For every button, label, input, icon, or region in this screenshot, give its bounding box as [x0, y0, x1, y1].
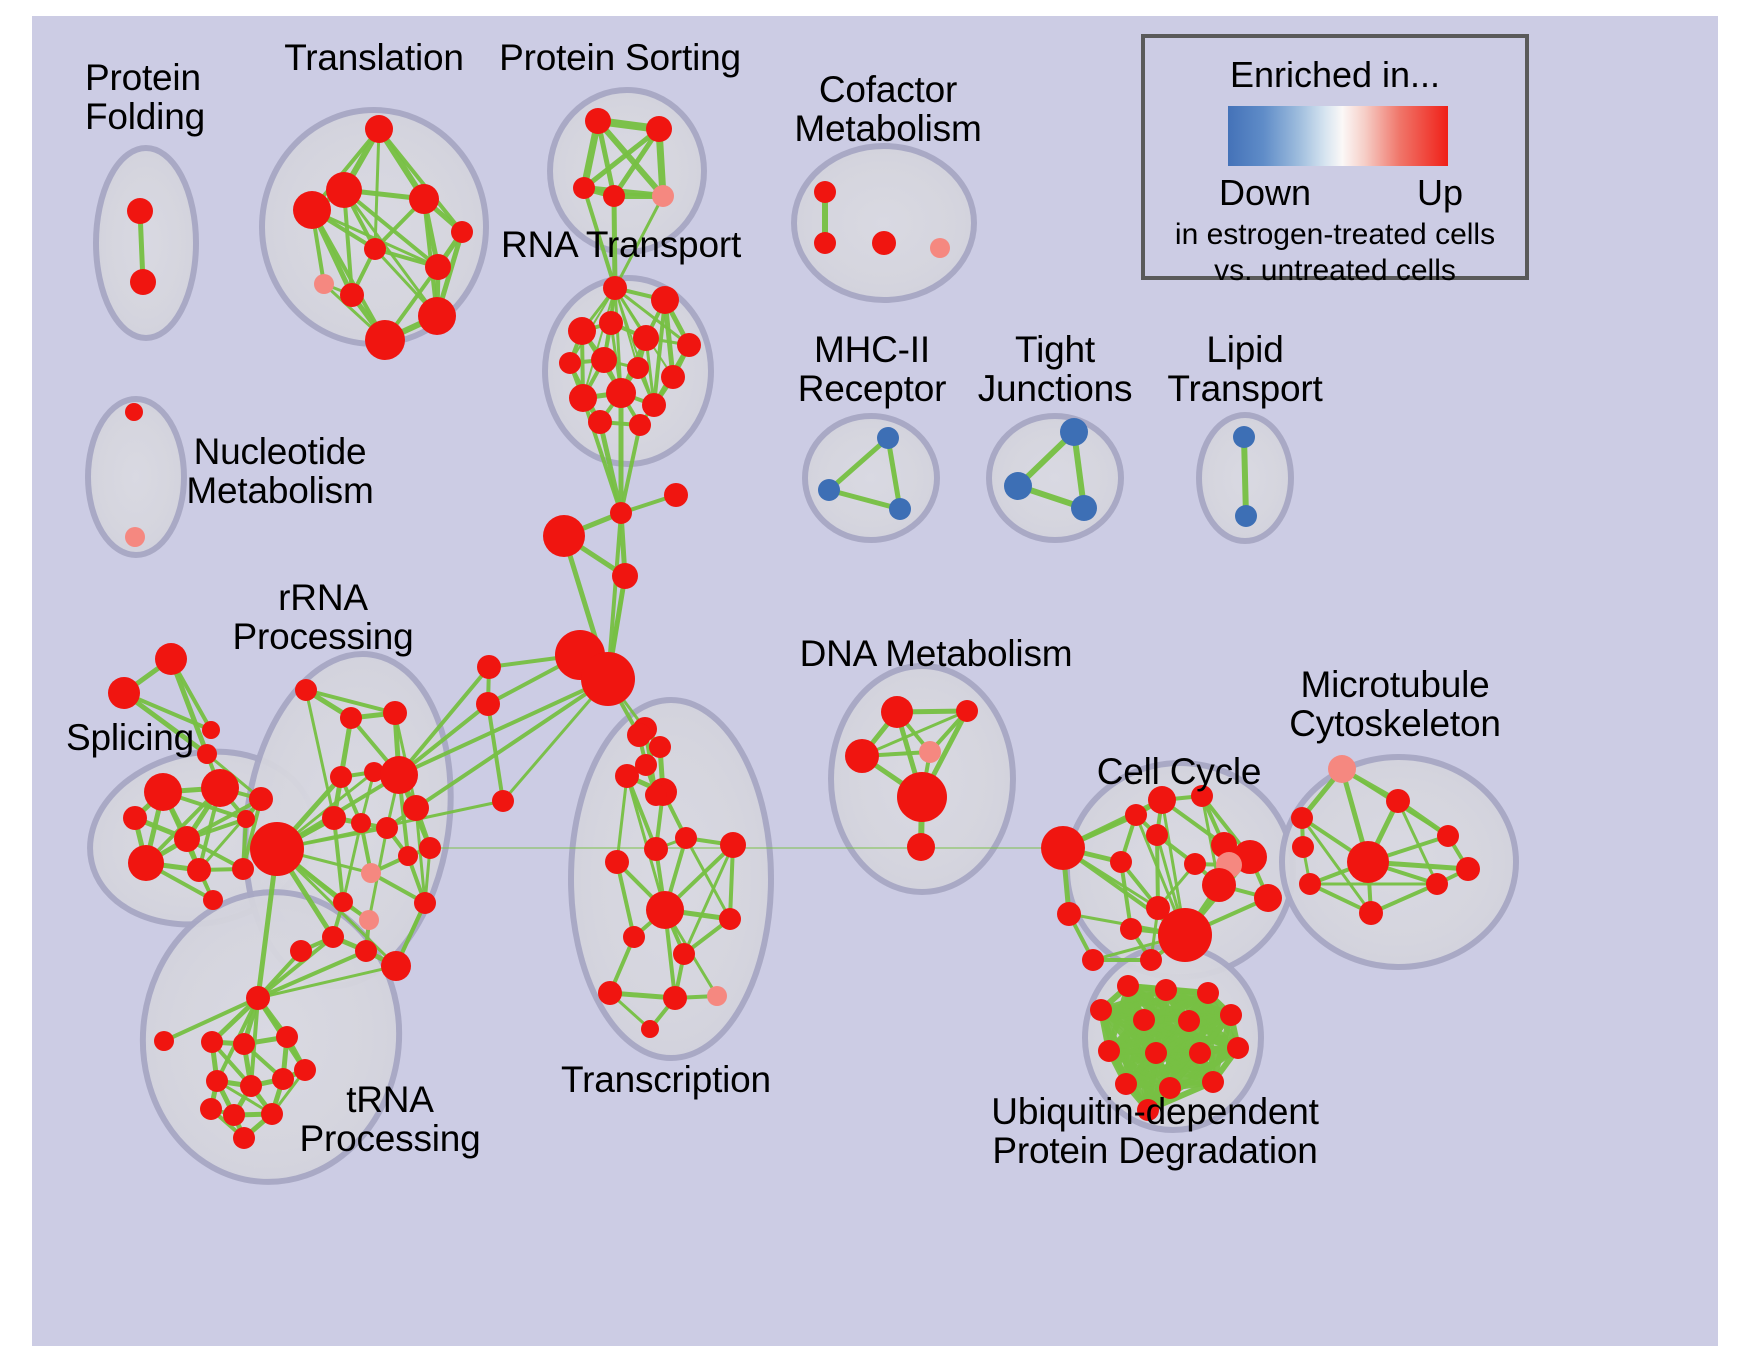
network-node-bridge [610, 502, 632, 524]
network-node [1184, 853, 1206, 875]
network-node [569, 384, 597, 412]
network-node [814, 181, 836, 203]
network-node [419, 837, 441, 859]
network-node [201, 769, 239, 807]
network-node [720, 832, 746, 858]
network-node [1456, 857, 1480, 881]
network-node [651, 286, 679, 314]
network-node [673, 943, 695, 965]
network-node [127, 198, 153, 224]
network-node [187, 858, 211, 882]
network-node [623, 926, 645, 948]
network-node-bridge [581, 652, 635, 706]
network-edge [1244, 437, 1246, 516]
network-node [1328, 755, 1356, 783]
network-node [919, 741, 941, 763]
network-node [130, 269, 156, 295]
network-node [603, 185, 625, 207]
network-node [598, 981, 622, 1005]
network-node [661, 365, 685, 389]
network-node [663, 986, 687, 1010]
network-node [233, 1127, 255, 1149]
network-node [330, 766, 352, 788]
network-node [1220, 1004, 1242, 1026]
legend-color-gradient-bar [1228, 106, 1448, 166]
network-node [1098, 1040, 1120, 1062]
cluster-hull [805, 416, 937, 540]
network-node [644, 837, 668, 861]
network-node [155, 643, 187, 675]
network-node [677, 333, 701, 357]
network-node [340, 283, 364, 307]
legend-title: Enriched in... [1145, 54, 1525, 96]
network-node [364, 238, 386, 260]
cluster-hull-shape [550, 90, 704, 252]
network-node [1178, 1010, 1200, 1032]
network-node [223, 1104, 245, 1126]
network-node [1146, 824, 1168, 846]
network-node [814, 232, 836, 254]
figure-root: ProteinFoldingTranslationProtein Sorting… [0, 0, 1750, 1360]
network-node [633, 325, 659, 351]
network-node [1227, 1037, 1249, 1059]
network-node [1155, 979, 1177, 1001]
network-node [646, 116, 672, 142]
network-node [249, 787, 273, 811]
network-node [877, 427, 899, 449]
network-node [383, 701, 407, 725]
network-node [200, 1098, 222, 1120]
network-node-bridge [492, 790, 514, 812]
network-node [125, 527, 145, 547]
cluster-hull-shape [805, 416, 937, 540]
network-node [889, 498, 911, 520]
network-node [246, 986, 270, 1010]
network-node-bridge [543, 515, 585, 557]
legend-caption-line-1: in estrogen-treated cells [1145, 218, 1525, 252]
network-node [1292, 836, 1314, 858]
network-node [232, 858, 254, 880]
network-node [1291, 807, 1313, 829]
network-node [907, 833, 935, 861]
network-node [818, 479, 840, 501]
network-node [1233, 426, 1255, 448]
network-node [1125, 804, 1147, 826]
network-node [403, 795, 429, 821]
network-node [425, 254, 451, 280]
cluster-hull-shape [96, 148, 196, 338]
network-node [1202, 868, 1236, 902]
network-node [250, 822, 304, 876]
legend-high-label: Up [1417, 172, 1463, 214]
network-node [418, 297, 456, 335]
network-node [603, 276, 627, 300]
network-edge-bridge [614, 196, 615, 288]
cluster-hull-shape [794, 146, 974, 300]
cluster-hull [794, 146, 974, 300]
network-node [1004, 472, 1032, 500]
network-node [365, 320, 405, 360]
network-node [261, 1103, 283, 1125]
network-node [1041, 826, 1085, 870]
network-node [845, 739, 879, 773]
network-node [233, 1033, 255, 1055]
network-node [322, 926, 344, 948]
network-node [1189, 1042, 1211, 1064]
network-node [629, 414, 651, 436]
network-node [605, 850, 629, 874]
network-node [1386, 789, 1410, 813]
network-node [1202, 1071, 1224, 1093]
network-node-bridge [664, 483, 688, 507]
network-node [128, 845, 164, 881]
legend-caption-line-2: vs. untreated cells [1145, 254, 1525, 288]
network-node [559, 352, 581, 374]
network-node [144, 773, 182, 811]
network-node [1145, 1042, 1167, 1064]
network-node [240, 1075, 262, 1097]
network-node [707, 986, 727, 1006]
network-node [1426, 873, 1448, 895]
network-node [365, 115, 393, 143]
network-node [1148, 786, 1176, 814]
network-node [1120, 918, 1142, 940]
network-node [1110, 851, 1132, 873]
network-node [956, 700, 978, 722]
network-node [642, 393, 666, 417]
network-node [322, 806, 346, 830]
network-node [1359, 901, 1383, 925]
network-node [1347, 841, 1389, 883]
network-node [1137, 1099, 1159, 1121]
network-node [376, 817, 398, 839]
network-node [201, 1031, 223, 1053]
network-node [108, 677, 140, 709]
network-node [897, 772, 947, 822]
network-node [627, 357, 649, 379]
network-node [272, 1068, 294, 1090]
network-node [361, 863, 381, 883]
network-node [276, 1026, 298, 1048]
network-node-bridge [476, 692, 500, 716]
network-node [340, 707, 362, 729]
network-node [326, 172, 362, 208]
network-node [646, 891, 684, 929]
network-node [881, 696, 913, 728]
network-node [652, 185, 674, 207]
network-node [398, 846, 418, 866]
network-node [1115, 1073, 1137, 1095]
network-node [290, 940, 312, 962]
network-node [1117, 975, 1139, 997]
network-node [1082, 949, 1104, 971]
network-node [206, 1070, 228, 1092]
network-node [641, 1020, 659, 1038]
network-node [585, 108, 611, 134]
network-node [719, 908, 741, 930]
network-node [202, 721, 220, 739]
network-node [359, 910, 379, 930]
network-node [1071, 495, 1097, 521]
network-node [1235, 505, 1257, 527]
network-node-bridge [612, 563, 638, 589]
network-node [675, 827, 697, 849]
network-node-bridge [645, 784, 667, 806]
network-node [351, 813, 371, 833]
network-node [414, 892, 436, 914]
network-node [568, 317, 596, 345]
network-node-bridge [627, 723, 651, 747]
network-node [1158, 908, 1212, 962]
network-node [930, 238, 950, 258]
network-node [1191, 785, 1213, 807]
network-node [125, 403, 143, 421]
network-node [381, 951, 411, 981]
network-node [1254, 884, 1282, 912]
network-node [588, 410, 612, 434]
network-node [293, 191, 331, 229]
network-node [573, 177, 595, 199]
network-node [154, 1031, 174, 1051]
network-node [197, 744, 217, 764]
network-node [1133, 1009, 1155, 1031]
legend-low-label: Down [1219, 172, 1311, 214]
network-node-bridge [635, 754, 657, 776]
network-node [649, 736, 671, 758]
network-node [295, 679, 317, 701]
network-node [872, 231, 896, 255]
network-node [451, 221, 473, 243]
network-node [333, 892, 353, 912]
network-node [409, 184, 439, 214]
network-node [1060, 418, 1088, 446]
network-node [174, 826, 200, 852]
cluster-hull [96, 148, 196, 338]
network-node [1090, 999, 1112, 1021]
network-node [355, 940, 377, 962]
network-node [1437, 825, 1459, 847]
legend-panel: Enriched in... Down Up in estrogen-treat… [1141, 34, 1529, 280]
network-node [1159, 1077, 1181, 1099]
network-node [314, 274, 334, 294]
cluster-hull [550, 90, 704, 252]
network-node [1299, 873, 1321, 895]
network-node [1197, 982, 1219, 1004]
network-node [294, 1059, 316, 1081]
network-node-bridge [477, 655, 501, 679]
network-node [203, 890, 223, 910]
network-node [606, 378, 636, 408]
network-node [123, 806, 147, 830]
network-node [237, 810, 255, 828]
network-node [380, 756, 418, 794]
network-node [1057, 902, 1081, 926]
network-node [1140, 949, 1162, 971]
network-node [591, 347, 617, 373]
network-node [599, 311, 623, 335]
